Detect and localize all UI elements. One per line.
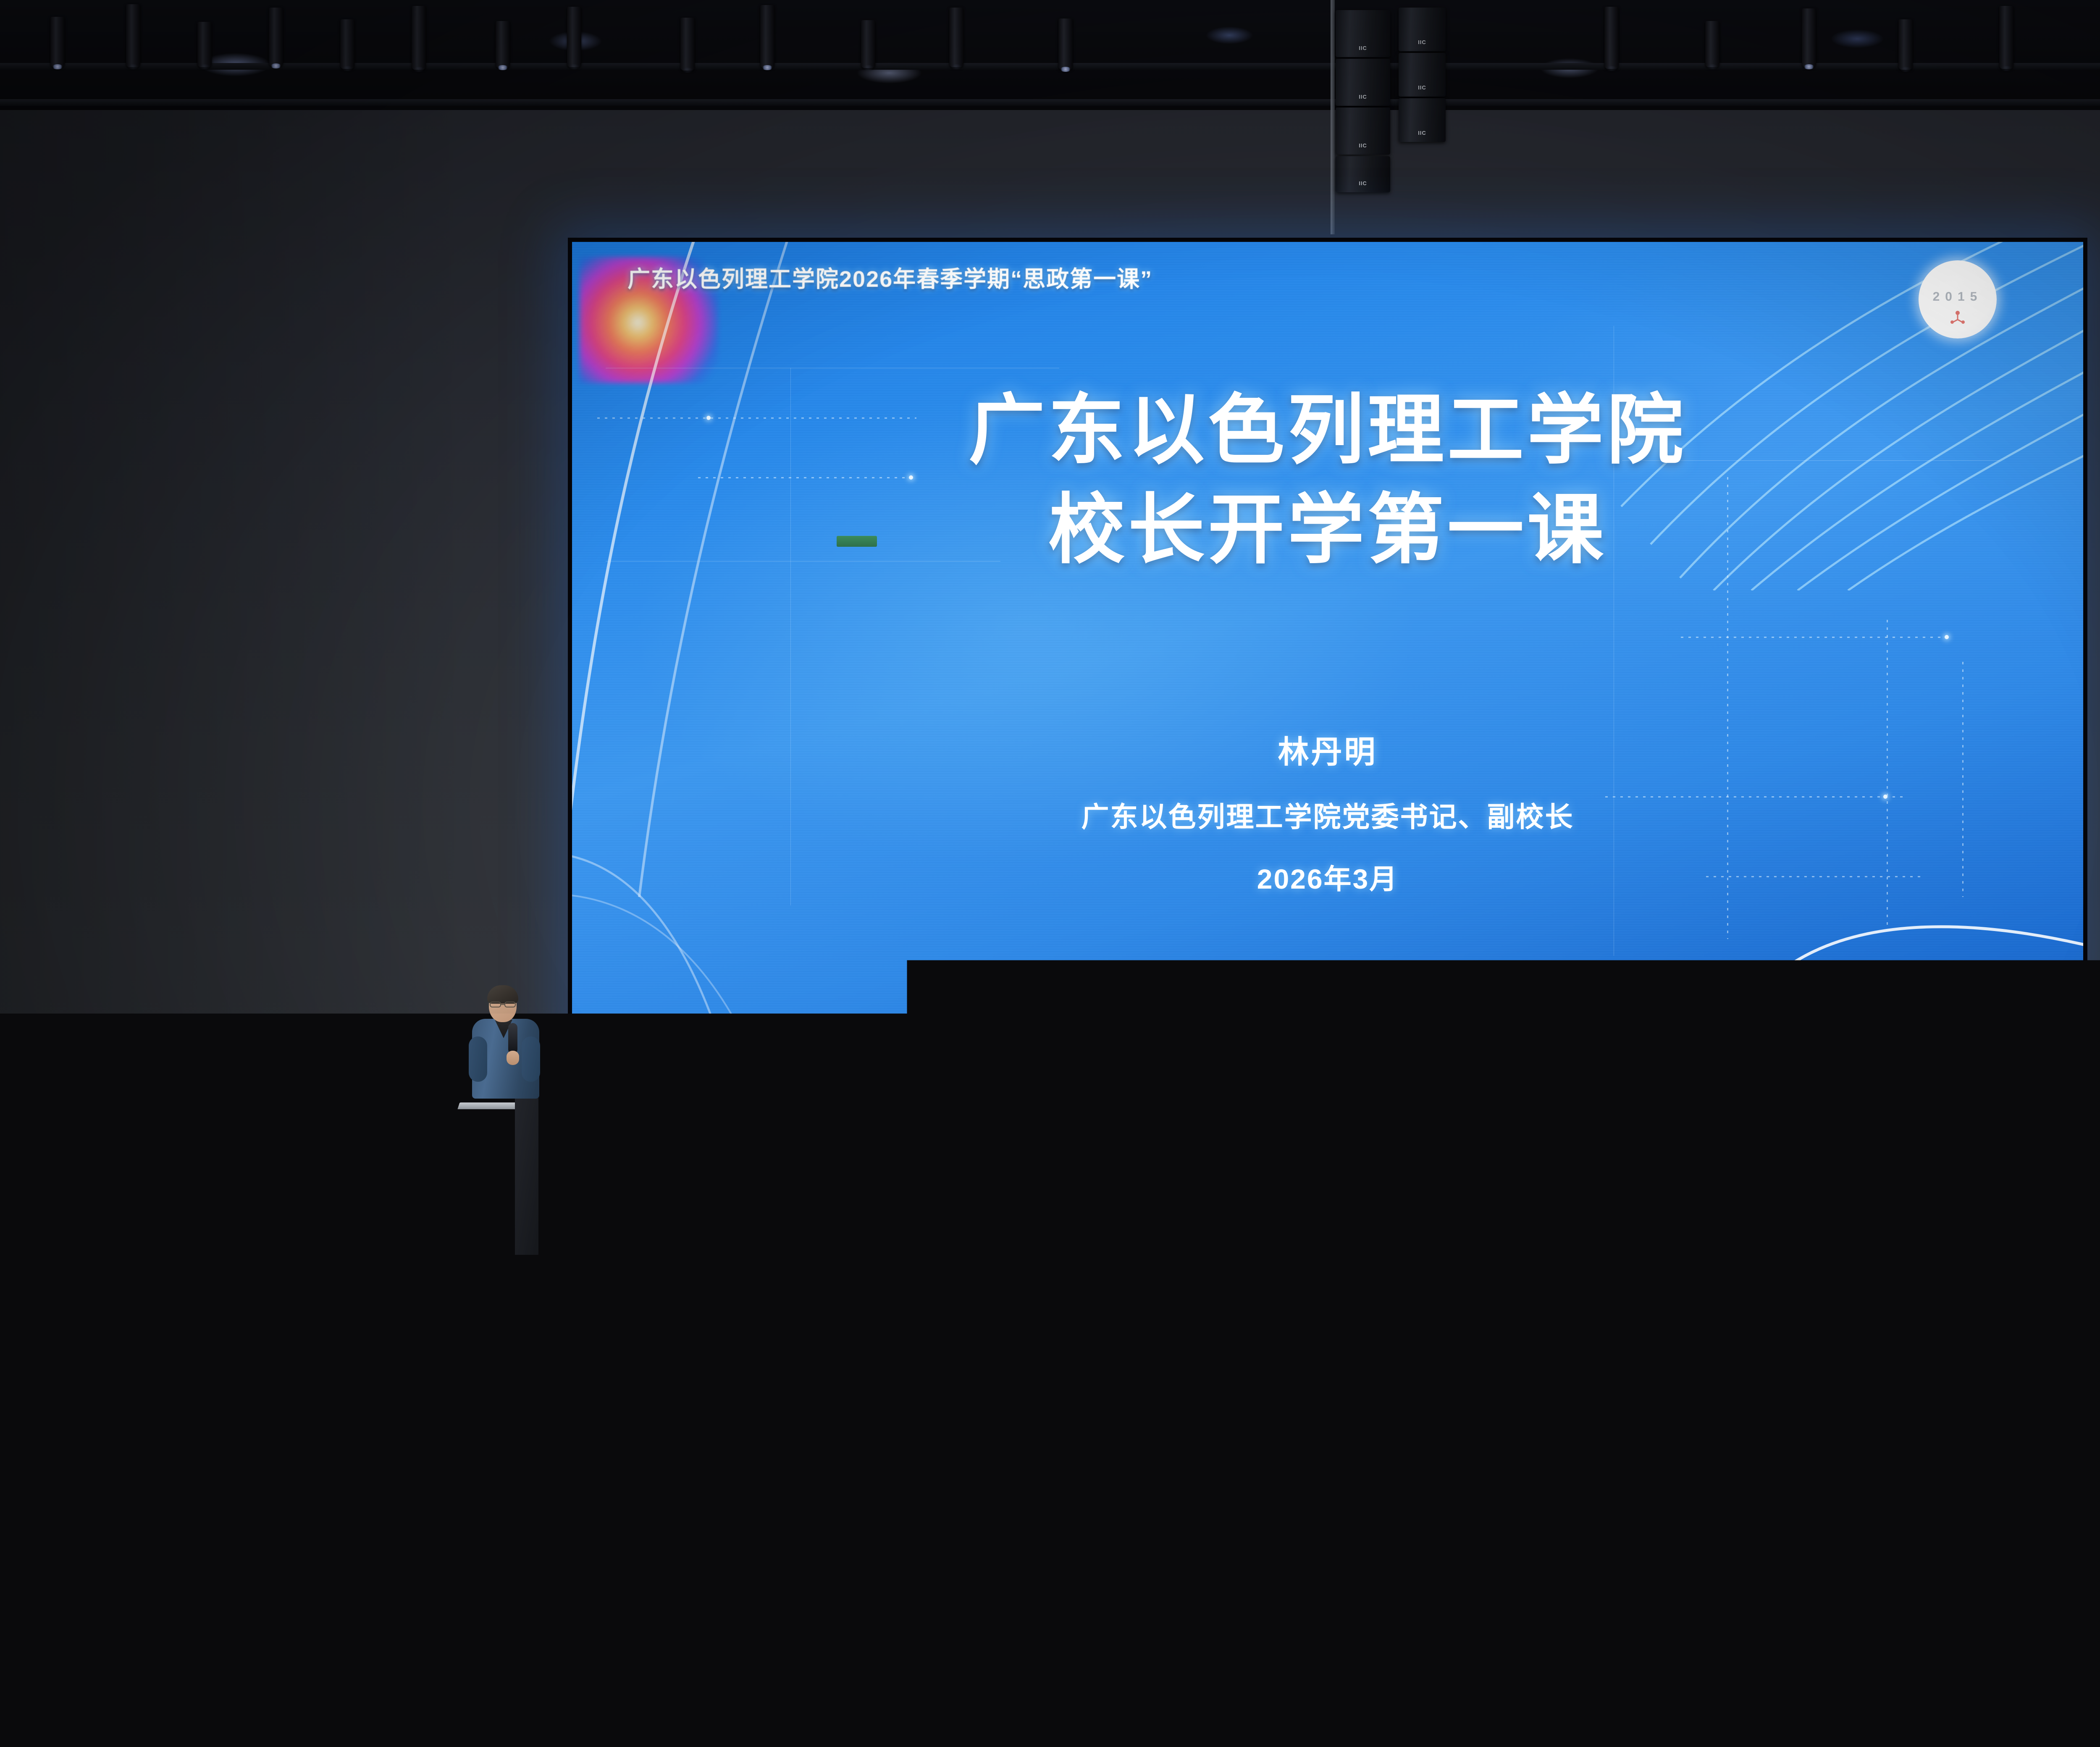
seat-armrest [1635,1534,1645,1563]
seat-armrest [1203,1534,1212,1563]
ceiling-spot-13 [1604,7,1619,69]
screen-title-line2: 校长开学第一课 [572,480,2083,580]
stage-floor [0,1134,2100,1344]
stage-moving-light-4 [1638,1079,1660,1133]
stage-monitor-1 [491,1254,561,1309]
audience-head-foreground-8 [1058,1629,1159,1747]
stage-moving-light-5 [1861,1079,1882,1133]
audience-head-mid-16 [2058,1517,2100,1578]
audience-head-mid-6 [739,1518,783,1579]
stage-cable-right [1806,1315,1999,1317]
audience-head-foreground-4 [508,1632,609,1747]
led-screen-surface: 广东以色列理工学院2026年春季学期“思政第一课” 2015 广东以色列理工学院… [572,242,2083,1107]
ceiling-truss-lower [0,99,2100,106]
screen-presenter-role: 广东以色列理工学院党委书记、副校长 [572,795,2083,835]
speaker-hand [507,1051,519,1065]
audience-head-near-12 [1495,1578,1550,1660]
screen-subtitle-block: 林丹明 广东以色列理工学院党委书记、副校长 2026年3月 [572,727,2083,897]
audience-head-near-4 [470,1577,525,1660]
badge-mark-icon [1948,310,1967,326]
audience-head-mid-10 [1260,1519,1304,1580]
ceiling-spot-17 [1999,6,2013,69]
audience-head-back-2 [479,1457,515,1506]
stage-moving-light-1 [647,1079,669,1133]
stage-cable-left [328,1316,479,1318]
ceiling-spot-9 [760,5,774,68]
ceiling-spot-7 [567,7,581,67]
screen-presenter-name: 林丹明 [572,727,2083,772]
ceiling-spot-4 [340,19,354,69]
audience-head-mid-4 [496,1514,539,1576]
auditorium-scene: 广东以色列理工学院2026年春季学期“思政第一课” 2015 广东以色列理工学院… [0,0,2100,1747]
ceiling-spot-12 [1058,18,1073,70]
audience-head-back-5 [1268,1459,1305,1508]
audience-head-mid-0 [34,1514,77,1576]
stage-moving-light-2 [882,1079,904,1133]
seat-armrest [857,1534,866,1563]
audience-head-foreground-2 [235,1628,336,1747]
audience-head-foreground-6 [773,1631,874,1747]
ceiling-truss-upper [0,63,2100,70]
ceiling-spot-5 [412,6,426,70]
audience-head-back-3 [823,1456,859,1504]
audience-head-near-16 [2016,1577,2071,1660]
ceiling-spot-0 [50,17,65,67]
handheld-microphone [508,1023,517,1054]
seat-armrest [684,1534,693,1563]
audience-head-back-1 [378,1454,414,1503]
ceiling-spot-16 [1898,19,1913,70]
stage-monitor-3 [1701,1256,1772,1311]
audience-head-mid-9 [1134,1524,1178,1585]
seat-armrest [1376,1534,1385,1563]
audience-head-back-6 [1428,1454,1464,1503]
audience-head-near-5 [596,1590,651,1672]
seat-armrest [78,1534,87,1563]
line-array-speaker-left [1336,10,1390,192]
podium-emblem-text: GUANGDONG TECHNION [465,1245,519,1255]
audience-head-back-7 [1579,1458,1615,1507]
led-stage-screen: 广东以色列理工学院2026年春季学期“思政第一课” 2015 广东以色列理工学院… [568,238,2087,1111]
ceiling-spot-14 [1705,21,1719,67]
line-array-speaker-right [1399,8,1446,142]
audience-head-back-4 [979,1451,1015,1500]
audience-head-back-10 [2041,1455,2077,1503]
audience-head-foreground-10 [1340,1632,1441,1747]
school-badge-icon: 2015 [1919,260,1997,338]
audience-head-mid-3 [361,1525,405,1587]
audience-head-mid-5 [613,1523,657,1584]
stage-power-plug-right [1974,1305,1983,1320]
audience-head-mid-15 [1932,1525,1976,1587]
audience-seating: 11975318 [0,1451,2100,1747]
audience-head-foreground-12 [1617,1630,1718,1747]
audience-head-mid-2 [260,1517,304,1578]
audience-head-near-6 [722,1578,777,1660]
seat-armrest [597,1534,606,1563]
stage-moving-light-0 [160,1079,181,1133]
ceiling-spot-6 [496,21,510,68]
audience-head-mid-13 [1663,1524,1707,1586]
seat-armrest [251,1534,260,1563]
screen-header-banner: 广东以色列理工学院2026年春季学期“思政第一课” [572,259,2083,295]
stage-monitor-0 [0,1241,63,1296]
seat-armrest [1722,1534,1731,1563]
seat-armrest [1982,1534,1991,1563]
ceiling-spot-8 [680,18,695,71]
speaker-person [465,983,549,1109]
ceiling-spot-10 [861,20,875,68]
ceiling-spot-2 [197,22,212,67]
audience-head-foreground-14 [1894,1632,1995,1747]
seat-armrest [1116,1534,1126,1563]
school-badge-year: 2015 [1933,290,1983,304]
audience-head-mid-7 [874,1525,917,1587]
ceiling-spot-11 [949,8,963,67]
audience-head-near-10 [1235,1577,1289,1660]
screen-header-text: 广东以色列理工学院2026年春季学期“思政第一课” [627,260,1152,294]
seat-armrest [1462,1534,1472,1563]
ceiling-spot-15 [1802,8,1816,67]
screen-curve-decor-left [572,242,891,1015]
audience-head-near-8 [979,1577,1033,1660]
audience-head-near-14 [1756,1577,1810,1660]
audience-head-mid-14 [1798,1518,1841,1579]
stage-power-plug-left [71,1307,81,1322]
eyeglasses-icon [490,1001,516,1008]
stage-power-plug-mid [339,1306,348,1321]
ceiling-spot-1 [126,4,140,67]
stage-moving-light-3 [1113,1079,1135,1133]
audience-head-mid-12 [1529,1516,1572,1577]
seat-armrest [943,1534,953,1563]
seat-armrest [1895,1534,1904,1563]
speaker-leg [515,1095,538,1255]
audience-head-mid-8 [1000,1515,1043,1576]
stage-monitor-2 [1130,1257,1200,1313]
speaker-arm-left [469,1036,487,1082]
seat-armrest [338,1534,347,1563]
audience-head-back-0 [218,1461,255,1509]
seat-armrest [0,1534,1,1563]
speaker-arm-right [522,1036,540,1082]
screen-title-block: 广东以色列理工学院 校长开学第一课 [572,380,2083,579]
audience-head-back-8 [1743,1453,1779,1502]
ceiling-spot-3 [269,8,283,66]
screen-date: 2026年3月 [572,857,2083,897]
screen-title-line1: 广东以色列理工学院 [572,380,2083,480]
audience-head-mid-11 [1399,1526,1442,1587]
audience-head-mid-1 [126,1522,170,1583]
audience-head-back-9 [1915,1460,1951,1508]
seat-armrest [424,1534,433,1563]
